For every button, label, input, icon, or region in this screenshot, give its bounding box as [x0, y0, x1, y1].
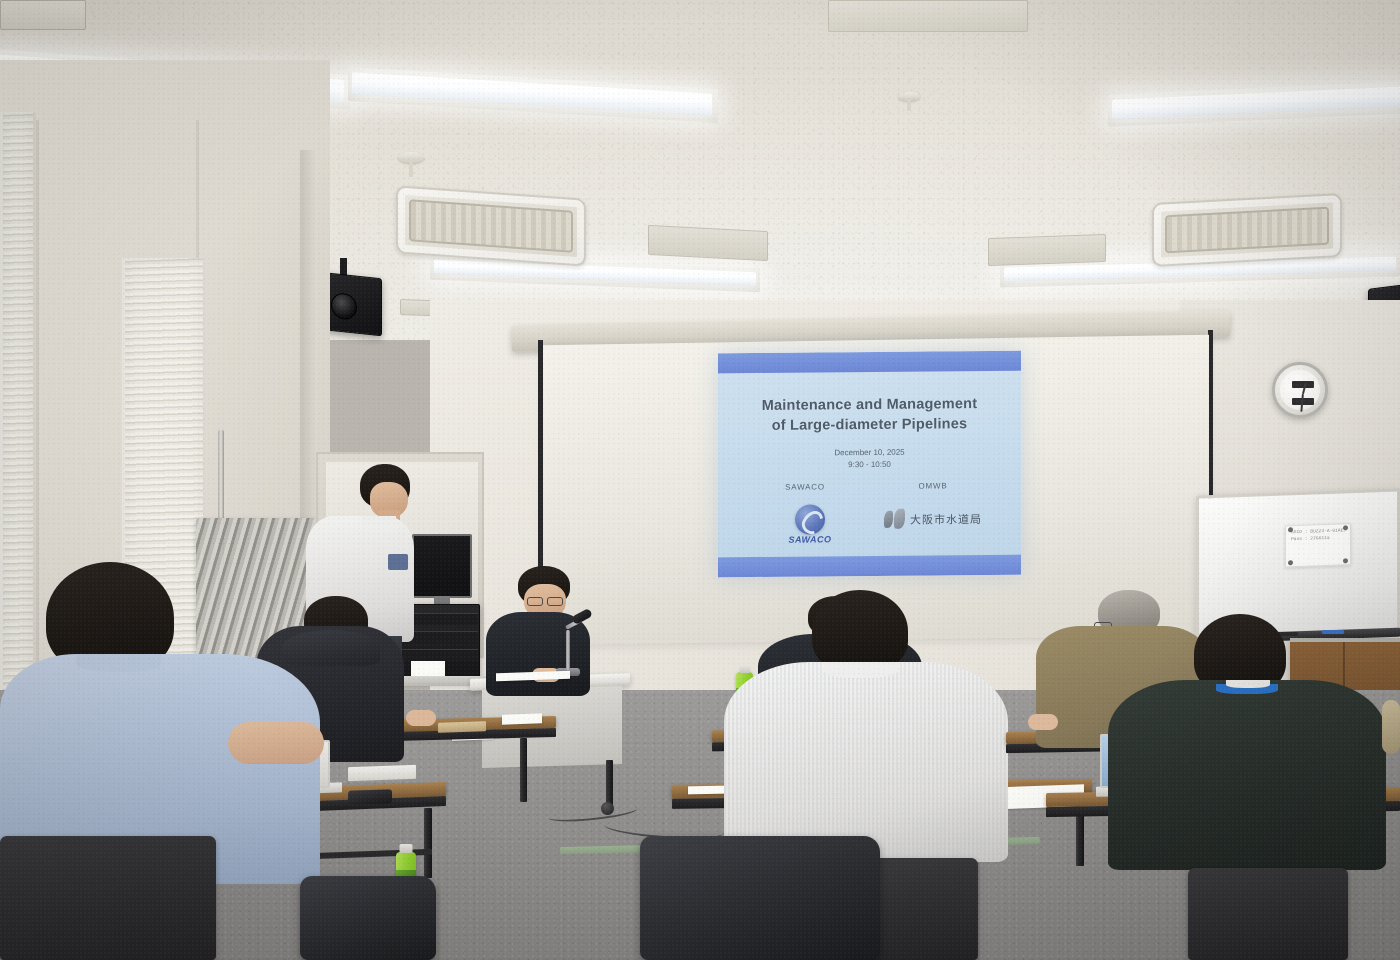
- center-note: [688, 786, 726, 795]
- whiteboard-note: SSID : BUZZ3-A-G1AE3G Pass : 27G611a: [1285, 523, 1351, 567]
- sawaco-logo-mark: [795, 504, 825, 534]
- clock-face: [1280, 370, 1320, 410]
- ac-grille: [1165, 207, 1329, 254]
- magnet-bottom-left: [1288, 560, 1293, 565]
- omwb-logo-wing-right: [894, 509, 905, 529]
- sawaco-logo: SAWACO: [778, 504, 842, 551]
- ceiling-panel-topright: [828, 0, 1028, 32]
- attendee-front-left-arm: [228, 722, 324, 764]
- monitor-stand: [434, 596, 450, 604]
- bottle-cap: [739, 665, 750, 673]
- ceiling-air-conditioner-left: [396, 185, 586, 266]
- smartphone-left: [348, 789, 392, 805]
- attendee-right-edge-arm: [1382, 700, 1400, 754]
- slide-title-line-1: Maintenance and Management: [718, 395, 1021, 416]
- attendee-black-vest-hand: [406, 710, 436, 726]
- slide-title-line-2: of Large-diameter Pipelines: [718, 415, 1021, 436]
- conference-room-photo: Maintenance and Management of Large-diam…: [0, 0, 1400, 960]
- rack-slot-3: [400, 649, 478, 661]
- seated-speaker-glasses-right: [547, 597, 563, 606]
- microphone-stand: [566, 630, 570, 670]
- slide-bottom-band: [718, 555, 1021, 578]
- magnet-top-right: [1343, 525, 1348, 530]
- omwb-logo-wing-left: [884, 511, 893, 528]
- rack-label-paper: [411, 661, 445, 677]
- attendee-center-shirt: [724, 662, 1008, 862]
- slide-top-band: [718, 351, 1021, 374]
- attendee-center-collar: [824, 662, 898, 678]
- standing-presenter-pocket: [388, 554, 408, 570]
- smoke-detector: [398, 152, 424, 163]
- chair-front-left: [0, 836, 216, 960]
- smoke-detector-stem: [409, 161, 413, 177]
- whiteboard-note-line-2: Pass : 27G611a: [1291, 535, 1345, 544]
- standing-presenter-collar: [362, 516, 396, 532]
- seated-speaker-glasses-left: [527, 597, 543, 606]
- slide: Maintenance and Management of Large-diam…: [718, 351, 1021, 578]
- shoulder-bag-center: [640, 836, 880, 960]
- table-left-back-leg: [520, 738, 527, 802]
- slide-org-right: OMWB: [888, 481, 978, 491]
- attendee-center-hair: [812, 590, 908, 672]
- smoke-detector-stem: [907, 99, 911, 111]
- slide-org-left: SAWACO: [760, 482, 850, 492]
- wall-clock: 9:30: [1272, 362, 1328, 418]
- attendee-green-sweater-collar: [1226, 680, 1270, 688]
- omwb-logo: 大阪市水道局: [884, 507, 1002, 532]
- chair-right: [1188, 868, 1348, 960]
- presenter-table-leg: [606, 760, 613, 806]
- wall-seam-1: [36, 120, 39, 740]
- smoke-detector-right: [898, 92, 920, 101]
- omwb-logo-text: 大阪市水道局: [910, 511, 982, 528]
- presenter-table-caster: [601, 802, 614, 815]
- notebook-left-back: [438, 721, 486, 733]
- ceiling-air-conditioner-right: [1152, 193, 1342, 267]
- attendee-khaki-hand: [1028, 714, 1058, 730]
- paper-left-back: [502, 713, 542, 724]
- window-blinds-left: [0, 112, 36, 712]
- shoulder-bag-left: [300, 876, 436, 960]
- attendee-green-sweater-torso: [1108, 680, 1386, 870]
- table-left-front-leg: [424, 808, 432, 878]
- attendee-black-vest-hood: [282, 630, 380, 666]
- ceiling-vent-left: [648, 225, 768, 261]
- attendee-front-left-collar: [76, 654, 162, 672]
- notebook-left-front: [348, 765, 416, 781]
- ac-grille: [409, 199, 573, 252]
- ceiling-vent-right: [988, 234, 1106, 266]
- monitor: [412, 534, 472, 598]
- whiteboard-marker-blue: [1322, 630, 1344, 634]
- ceiling-panel-topleft: [0, 0, 86, 30]
- bottle-cap: [400, 844, 413, 853]
- magnet-bottom-right: [1343, 558, 1348, 563]
- slide-time: 9:30 - 10:50: [718, 459, 1021, 472]
- speaker-cone: [331, 292, 357, 321]
- sawaco-logo-text: SAWACO: [778, 534, 842, 545]
